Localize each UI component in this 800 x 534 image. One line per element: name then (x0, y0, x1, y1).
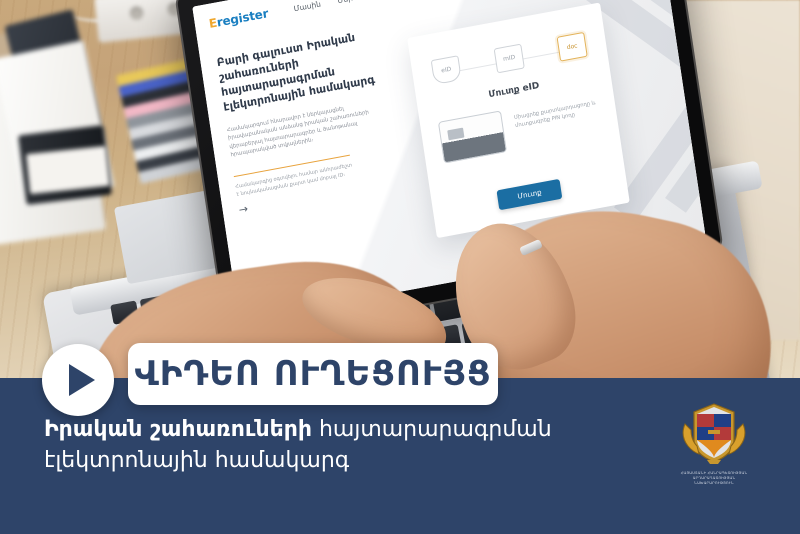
nav-item-1[interactable]: Մեր մասին (337, 0, 382, 5)
login-card-description: Միացրեք քարտկարդացողը և մուտքագրեք PIN կ… (513, 93, 601, 130)
site-logo[interactable]: Eregister (208, 6, 269, 31)
screenshot-root: Eregister Մասին Մեր մասին Որոնում Ուղեցո… (0, 0, 800, 534)
armenian-coat-of-arms-icon (681, 400, 747, 466)
video-guide-badge[interactable]: ՎԻԴԵՈ ՈՒՂԵՑՈՒՅՑ (128, 343, 498, 405)
logo-part-2: register (216, 6, 269, 29)
login-button[interactable]: Մուտք (496, 179, 562, 211)
login-card: eID mID doc Մուտք eID Միացրեք քարտկարդաց… (407, 3, 630, 239)
emblem-block: ՀԱՅԱՍՏԱՆԻ ՀԱՆՐԱՊԵՏՈՒԹՅԱՆ ԱՐԴԱՐԱԴԱՏՈՒԹՅԱՆ… (666, 400, 762, 487)
banner-title-bold: Իրական շահառուների (44, 417, 312, 442)
video-guide-label: ՎԻԴԵՈ ՈՒՂԵՑՈՒՅՑ (134, 354, 491, 394)
id-card-graphic (438, 110, 507, 163)
emblem-caption: ՀԱՅԱՍՏԱՆԻ ՀԱՆՐԱՊԵՏՈՒԹՅԱՆ ԱՐԴԱՐԱԴԱՏՈՒԹՅԱՆ… (666, 471, 762, 487)
banner-title-rest: հայտարարագրման (312, 417, 552, 442)
mobile-id-icon[interactable]: mID (494, 44, 525, 74)
id-shield-icon[interactable]: eID (431, 55, 462, 85)
play-button-icon[interactable] (42, 344, 114, 416)
document-icon[interactable]: doc (557, 32, 588, 62)
banner-title-line2: էլեկտրոնային համակարգ (44, 448, 349, 473)
hero-section: Բարի գալուստ Իրական շահառուների հայտարար… (216, 24, 407, 216)
paper-edge (26, 146, 110, 194)
nav-item-0[interactable]: Մասին (293, 0, 321, 13)
banner-title: Իրական շահառուների հայտարարագրման էլեկտր… (44, 414, 664, 476)
emblem-caption-line-3: ՆԱԽԱՐԱՐՈՒԹՅՈՒՆ (666, 481, 762, 486)
